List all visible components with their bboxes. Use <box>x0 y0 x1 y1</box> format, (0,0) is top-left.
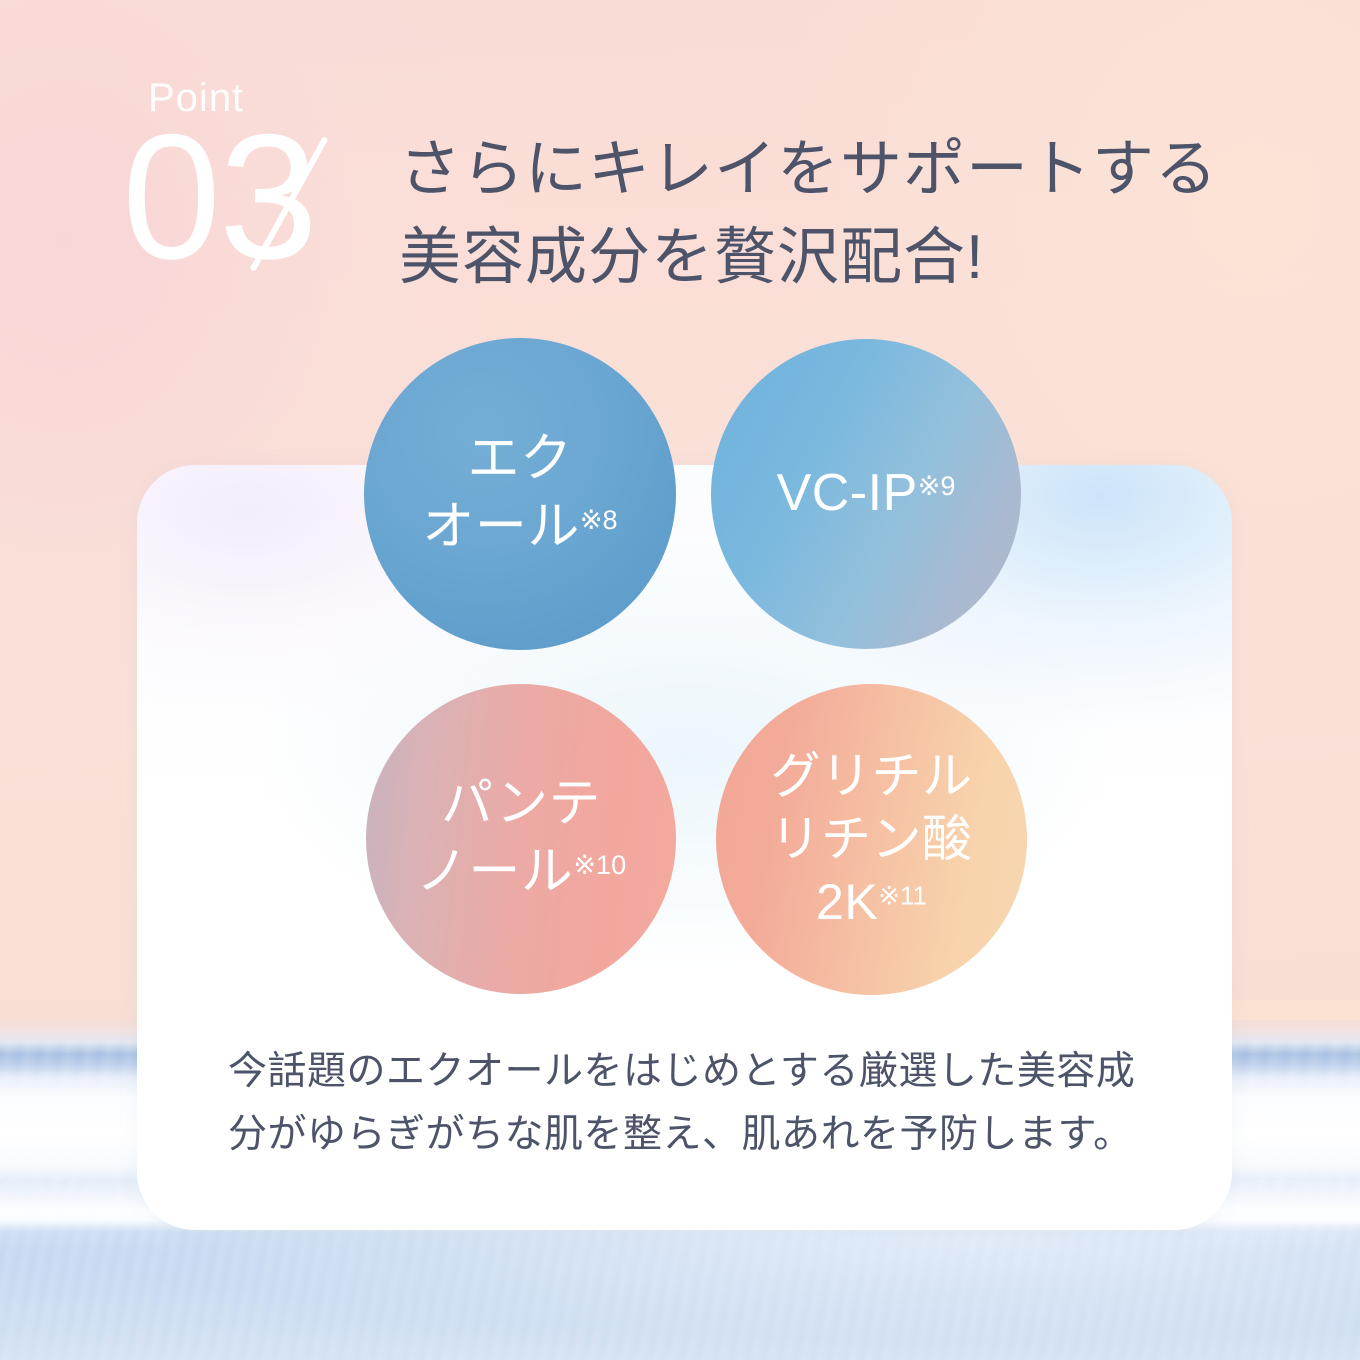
card-description-line-1: 今話題のエクオールをはじめとする厳選した美容成 <box>228 1040 1178 1103</box>
ingredient-label-line-3: 2K <box>816 874 878 930</box>
page-title-line-1: さらにキレイをサポートする <box>399 126 1239 214</box>
page-title: さらにキレイをサポートする 美容成分を贅沢配合! <box>399 126 1239 302</box>
ingredient-footnote-marker: ※9 <box>918 471 956 501</box>
ingredient-label-line-1: エク <box>422 426 617 494</box>
point-number: 03 <box>122 108 316 286</box>
ingredient-label-line-1: パンテ <box>416 771 626 839</box>
ingredient-bubble-panthenol: パンテ ノール※10 <box>366 684 676 994</box>
page-title-line-2: 美容成分を贅沢配合! <box>399 214 1239 302</box>
ingredient-footnote-marker: ※8 <box>580 505 618 535</box>
ingredient-label-line-2: ノール <box>416 843 574 901</box>
ingredient-bubble-vcip: VC-IP※9 <box>711 339 1021 649</box>
header: Point 03 さらにキレイをサポートする 美容成分を贅沢配合! <box>0 0 1360 330</box>
ingredient-label-line-1: VC-IP <box>777 464 918 522</box>
promo-slide: Point 03 さらにキレイをサポートする 美容成分を贅沢配合! エク オール… <box>0 0 1360 1360</box>
ingredient-footnote-marker: ※10 <box>573 850 626 880</box>
card-description: 今話題のエクオールをはじめとする厳選した美容成 分がゆらぎがちな肌を整え、肌あれ… <box>228 1040 1178 1166</box>
ingredient-bubble-glycyrrhizate: グリチル リチン酸 2K※11 <box>716 684 1027 995</box>
ingredient-label-line-2: リチン酸 <box>771 808 973 871</box>
card-description-line-2: 分がゆらぎがちな肌を整え、肌あれを予防します。 <box>228 1103 1178 1166</box>
ingredient-bubble-equol: エク オール※8 <box>364 338 676 650</box>
ingredient-footnote-marker: ※11 <box>878 881 927 911</box>
ingredient-label-line-2: オール <box>422 498 580 556</box>
ingredient-label-line-1: グリチル <box>771 745 973 808</box>
